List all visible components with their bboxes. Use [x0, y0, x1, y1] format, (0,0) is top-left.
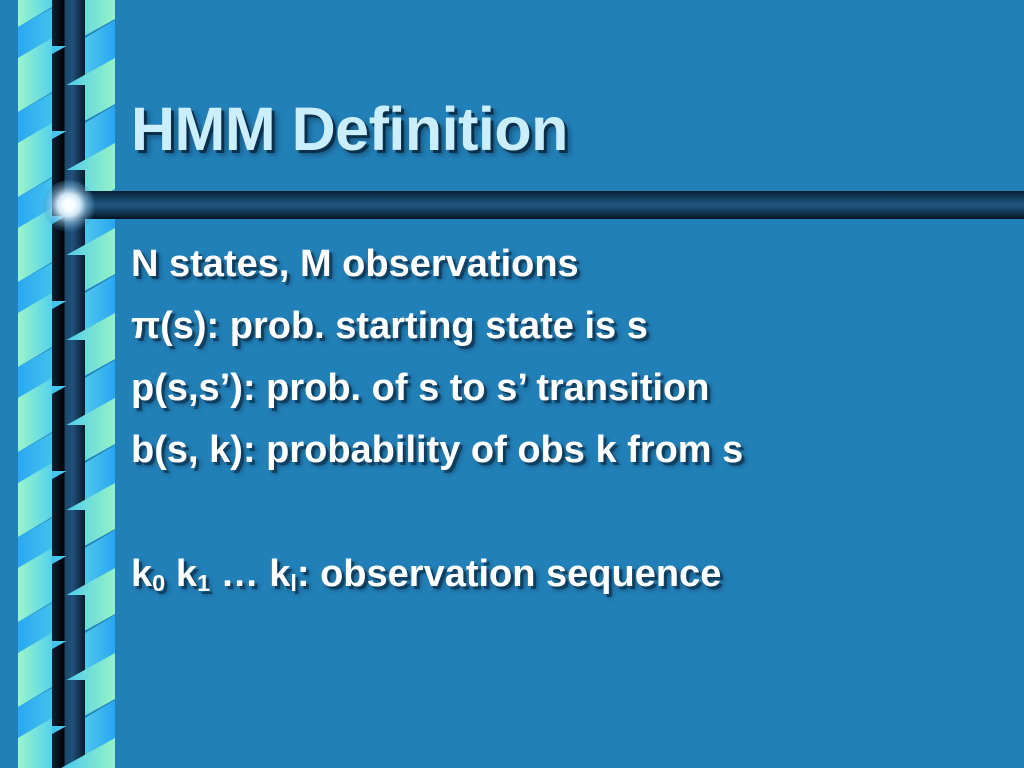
ribbon-pole-front-segments — [52, 0, 85, 726]
body-line-sequence: k0 k1 … kl: observation sequence — [131, 543, 1011, 605]
title-block: HMM Definition — [131, 92, 991, 182]
sequence-sub-first: 0 — [152, 570, 165, 596]
ribbon-pole — [52, 0, 85, 768]
body-line-pi: π(s): prob. starting state is s — [131, 295, 1011, 357]
body-line-blank — [131, 481, 1011, 543]
body-text-block: N states, M observations π(s): prob. sta… — [131, 233, 1011, 605]
ribbon-turns — [18, 0, 115, 768]
page-title: HMM Definition — [131, 92, 991, 166]
sequence-k-second: k — [176, 553, 197, 595]
sequence-k-first: k — [131, 553, 152, 595]
title-divider-rule — [68, 191, 1024, 219]
helix-ribbon-decoration — [0, 0, 130, 768]
body-line-emission: b(s, k): probability of obs k from s — [131, 419, 1011, 481]
divider-glow-bullet-icon — [43, 180, 95, 232]
body-line-transition: p(s,s’): prob. of s to s’ transition — [131, 357, 1011, 419]
sequence-ellipsis: … — [221, 553, 259, 595]
sequence-tail: : observation sequence — [297, 553, 721, 595]
sequence-k-last: k — [269, 553, 290, 595]
body-line-states: N states, M observations — [131, 233, 1011, 295]
helix-ribbon-icon — [0, 0, 130, 768]
sequence-sub-second: 1 — [197, 570, 210, 596]
presentation-slide: HMM Definition N states, M observations … — [0, 0, 1024, 768]
